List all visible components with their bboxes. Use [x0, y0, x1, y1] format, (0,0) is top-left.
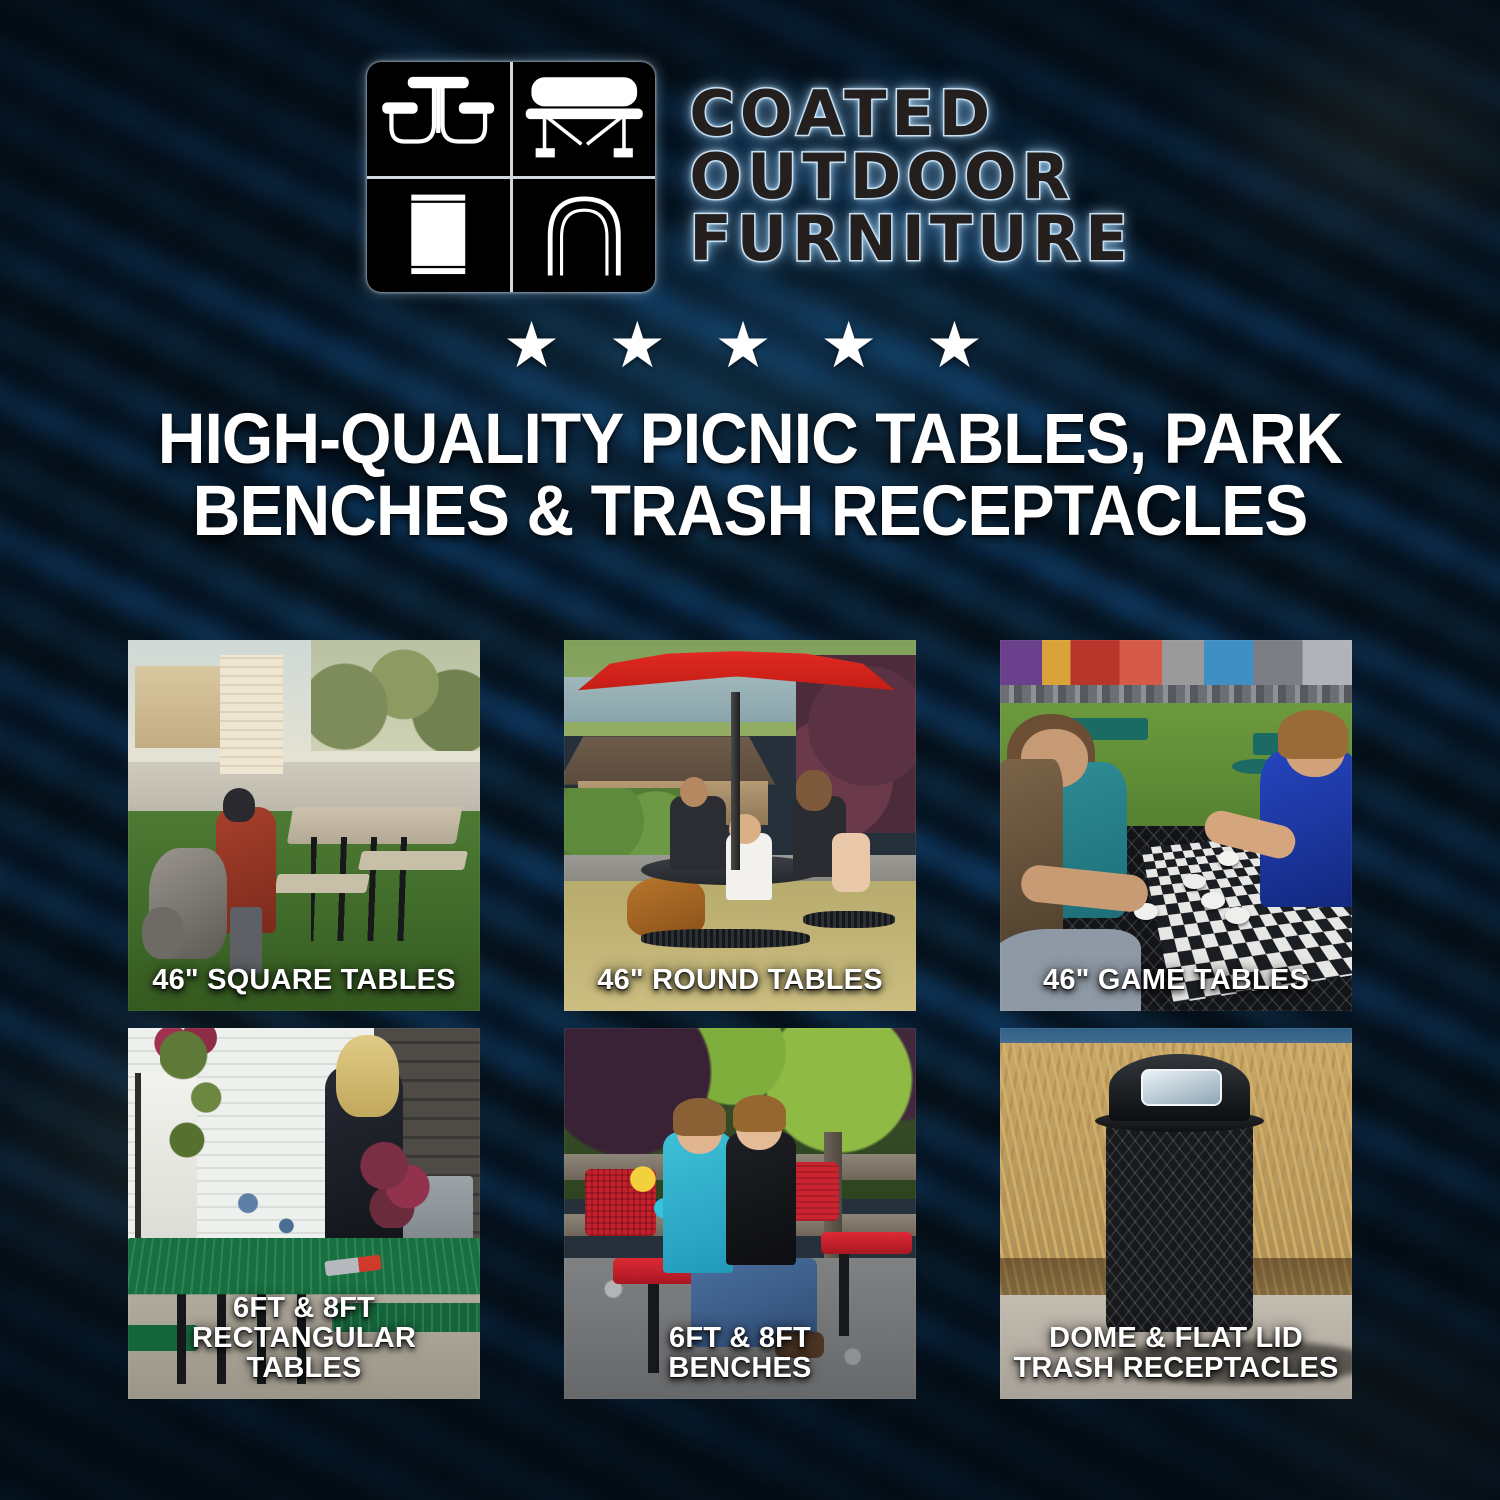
caption-line-1: 46" GAME TABLES: [1043, 964, 1309, 996]
product-tile-game-tables[interactable]: 46" GAME TABLES: [1000, 640, 1352, 1011]
brand-lockup: COATED OUTDOOR FURNITURE: [0, 0, 1500, 292]
caption-line-1: 6FT & 8FT: [669, 1322, 811, 1354]
product-tile-round-tables[interactable]: 46" ROUND TABLES: [564, 640, 916, 1011]
product-tile-square-tables[interactable]: 46" SQUARE TABLES: [128, 640, 480, 1011]
star-rating: ★ ★ ★ ★ ★: [0, 314, 1500, 378]
company-logo: [367, 62, 655, 292]
product-caption: 6FT & 8FT RECTANGULAR TABLES: [128, 1293, 480, 1383]
product-tile-benches[interactable]: 6FT & 8FT BENCHES: [564, 1028, 916, 1399]
caption-line-1: 6FT & 8FT: [233, 1292, 375, 1324]
picnic-table-icon: [367, 62, 510, 176]
product-caption: DOME & FLAT LID TRASH RECEPTACLES: [1000, 1323, 1352, 1383]
poster-canvas: COATED OUTDOOR FURNITURE ★ ★ ★ ★ ★ HIGH-…: [0, 0, 1500, 1500]
trash-receptacle-icon: [367, 179, 510, 293]
brand-name: COATED OUTDOOR FURNITURE: [689, 84, 1132, 270]
brand-line-2: OUTDOOR: [689, 147, 1132, 208]
product-caption: 46" SQUARE TABLES: [128, 965, 480, 995]
caption-line-2: RECTANGULAR TABLES: [136, 1323, 472, 1383]
caption-line-1: DOME & FLAT LID: [1049, 1322, 1303, 1354]
logo-cell-dome-lid: [513, 179, 656, 293]
bench-icon: [513, 62, 656, 176]
product-tile-rectangular-tables[interactable]: 6FT & 8FT RECTANGULAR TABLES: [128, 1028, 480, 1399]
product-caption: 46" ROUND TABLES: [564, 965, 916, 995]
product-grid: 46" SQUARE TABLES: [128, 640, 1352, 1399]
caption-line-2: TRASH RECEPTACLES: [1008, 1353, 1344, 1383]
logo-cell-picnic-table: [367, 62, 510, 176]
logo-cell-trash-receptacle: [367, 179, 510, 293]
dome-lid-icon: [513, 179, 656, 293]
caption-line-1: 46" SQUARE TABLES: [152, 964, 455, 996]
page-title: HIGH-QUALITY PICNIC TABLES, PARK BENCHES…: [53, 404, 1448, 549]
brand-line-3: FURNITURE: [689, 209, 1132, 270]
headline-line-1: HIGH-QUALITY PICNIC TABLES, PARK: [108, 404, 1391, 476]
poster-header: COATED OUTDOOR FURNITURE ★ ★ ★ ★ ★ HIGH-…: [0, 0, 1500, 549]
brand-line-1: COATED: [689, 84, 1132, 145]
logo-cell-bench: [513, 62, 656, 176]
headline-line-2: BENCHES & TRASH RECEPTACLES: [108, 476, 1391, 548]
caption-line-1: 46" ROUND TABLES: [597, 964, 883, 996]
product-caption: 46" GAME TABLES: [1000, 965, 1352, 995]
product-tile-trash-receptacles[interactable]: DOME & FLAT LID TRASH RECEPTACLES: [1000, 1028, 1352, 1399]
caption-line-2: BENCHES: [572, 1353, 908, 1383]
product-caption: 6FT & 8FT BENCHES: [564, 1323, 916, 1383]
